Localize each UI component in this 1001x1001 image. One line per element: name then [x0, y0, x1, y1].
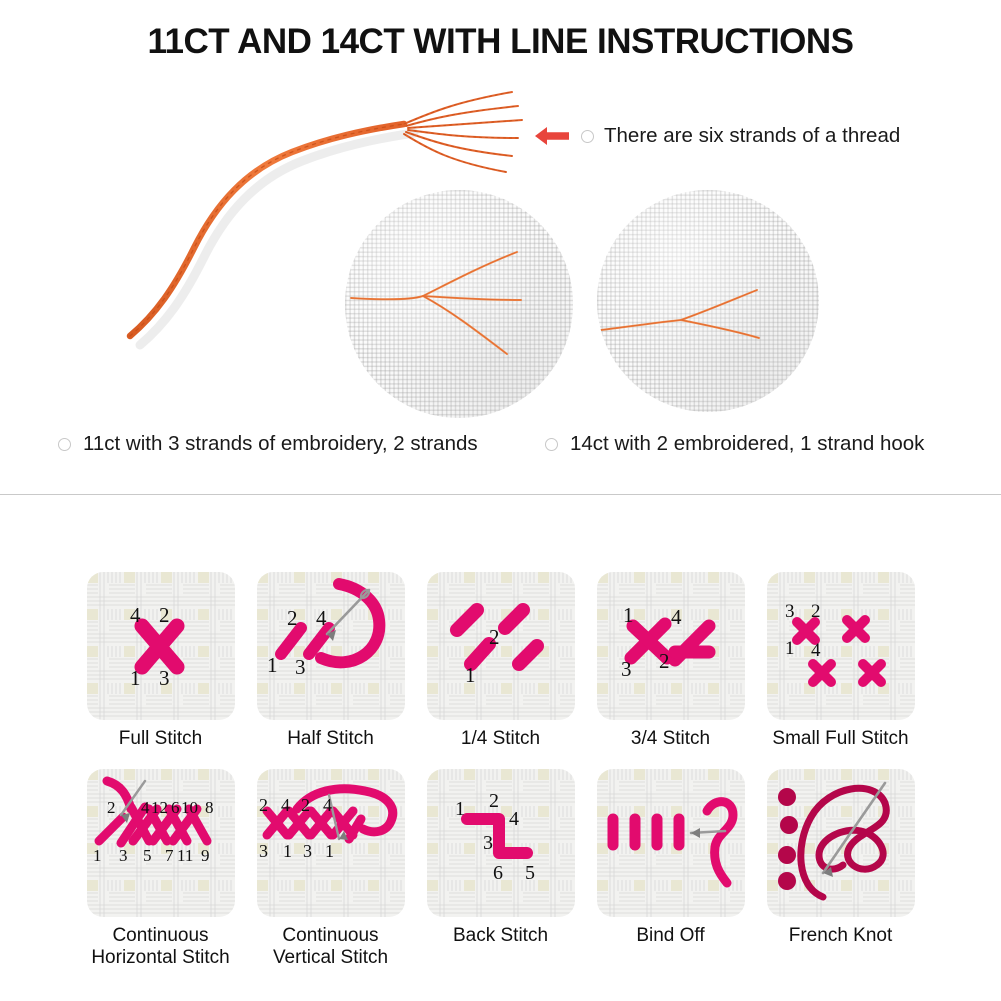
full-stitch-diagram: 4 2 1 3	[87, 572, 235, 720]
svg-text:3: 3	[621, 657, 632, 681]
stitch-tile: 4 2 1 3	[87, 572, 235, 720]
left-arrow-icon	[533, 125, 571, 147]
aida-circle-14ct	[597, 190, 819, 412]
stitch-tile	[597, 769, 745, 917]
thread-section: 11CT AND 14CT WITH LINE INSTRUCTIONS	[0, 0, 1001, 495]
svg-text:1: 1	[455, 798, 465, 820]
instruction-sheet: 11CT AND 14CT WITH LINE INSTRUCTIONS	[0, 0, 1001, 1001]
svg-text:1: 1	[785, 638, 795, 659]
stitch-cell-full-stitch: 4 2 1 3 Full Stitch	[84, 572, 237, 749]
small-full-stitch-diagram: 3 2 1 4	[767, 572, 915, 720]
svg-text:2: 2	[287, 606, 298, 630]
stitch-tile: 2 4 12 6 10 8 1 3 5 7 11	[87, 769, 235, 917]
continuous-vertical-stitch-diagram: 2 4 2 4 3 1 3 1	[257, 769, 405, 917]
svg-text:4: 4	[141, 798, 150, 817]
stitch-cell-quarter-stitch: 2 1 1/4 Stitch	[424, 572, 577, 749]
svg-text:4: 4	[509, 808, 519, 830]
strand-note-text: There are six strands of a thread	[604, 124, 900, 148]
stitch-grid: 4 2 1 3 Full Stitch	[0, 572, 1001, 968]
stitch-tile: 2 1	[427, 572, 575, 720]
svg-text:3: 3	[119, 846, 128, 865]
stitch-cell-small-full-stitch: 3 2 1 4 Small Full Stitch	[764, 572, 917, 749]
svg-text:4: 4	[281, 795, 290, 815]
stitch-cell-french-knot: French Knot	[764, 769, 917, 968]
svg-text:1: 1	[267, 653, 278, 677]
stitch-cell-bind-off: Bind Off	[594, 769, 747, 968]
stitch-tile	[767, 769, 915, 917]
svg-text:3: 3	[303, 841, 312, 861]
stitch-label: Continuous Vertical Stitch	[273, 925, 388, 968]
stitch-label: 1/4 Stitch	[461, 728, 540, 749]
stitch-tile: 1 4 2 3	[597, 572, 745, 720]
svg-text:3: 3	[259, 841, 268, 861]
continuous-horizontal-stitch-diagram: 2 4 12 6 10 8 1 3 5 7 11	[87, 769, 235, 917]
two-strand-split-diagram	[597, 190, 819, 412]
svg-text:4: 4	[671, 605, 682, 629]
svg-text:3: 3	[295, 655, 306, 679]
circle-captions: 11ct with 3 strands of embroidery, 2 str…	[0, 432, 1001, 462]
aida-circle-11ct	[345, 190, 573, 418]
svg-text:1: 1	[283, 841, 292, 861]
svg-text:2: 2	[107, 798, 116, 817]
stitch-tile: 3 2 1 4	[767, 572, 915, 720]
svg-text:1: 1	[93, 846, 102, 865]
svg-text:1: 1	[325, 841, 334, 861]
svg-text:3: 3	[785, 601, 795, 622]
stitch-cell-continuous-vertical: 2 4 2 4 3 1 3 1 Continuous Vertical Sti	[254, 769, 407, 968]
svg-text:2: 2	[489, 790, 499, 812]
svg-text:10: 10	[181, 798, 198, 817]
svg-text:4: 4	[323, 795, 332, 815]
page-title-thread: 11CT AND 14CT WITH LINE INSTRUCTIONS	[0, 22, 1001, 62]
svg-text:1: 1	[130, 666, 141, 690]
bind-off-diagram	[597, 769, 745, 917]
svg-text:1: 1	[623, 603, 634, 627]
svg-text:6: 6	[171, 798, 180, 817]
stitch-label: Back Stitch	[453, 925, 548, 946]
stitch-cell-back-stitch: 1 2 4 3 6 5 Back Stitch	[424, 769, 577, 968]
caption-14ct: 14ct with 2 embroidered, 1 strand hook	[545, 432, 924, 456]
three-strand-split-diagram	[345, 190, 573, 418]
stitch-tile: 2 4 1 3	[257, 572, 405, 720]
svg-text:3: 3	[159, 666, 170, 690]
stitch-label: French Knot	[789, 925, 893, 946]
svg-text:2: 2	[659, 649, 670, 673]
svg-text:1: 1	[465, 663, 476, 687]
stitch-tile: 1 2 4 3 6 5	[427, 769, 575, 917]
svg-text:6: 6	[493, 862, 503, 884]
svg-text:2: 2	[489, 625, 500, 649]
strand-note: There are six strands of a thread	[533, 124, 900, 148]
stitch-cell-three-quarter-stitch: 1 4 2 3 3/4 Stitch	[594, 572, 747, 749]
svg-text:5: 5	[143, 846, 152, 865]
stitch-row-2: 2 4 12 6 10 8 1 3 5 7 11	[0, 769, 1001, 968]
caption-11ct: 11ct with 3 strands of embroidery, 2 str…	[58, 432, 478, 456]
stitch-row-1: 4 2 1 3 Full Stitch	[0, 572, 1001, 749]
stitch-tile: 2 4 2 4 3 1 3 1	[257, 769, 405, 917]
svg-text:2: 2	[301, 795, 310, 815]
stitch-label: Full Stitch	[119, 728, 202, 749]
caption-11ct-text: 11ct with 3 strands of embroidery, 2 str…	[83, 432, 478, 456]
svg-text:4: 4	[316, 606, 327, 630]
three-quarter-stitch-diagram: 1 4 2 3	[597, 572, 745, 720]
stitch-label: Continuous Horizontal Stitch	[91, 925, 229, 968]
quarter-stitch-diagram: 2 1	[427, 572, 575, 720]
svg-text:7: 7	[165, 846, 174, 865]
back-stitch-diagram: 1 2 4 3 6 5	[427, 769, 575, 917]
embroidery-section: 4 2 1 3 Full Stitch	[0, 495, 1001, 1001]
bullet-ring-icon	[58, 438, 71, 451]
svg-text:12: 12	[151, 798, 168, 817]
french-knot-diagram	[767, 769, 915, 917]
caption-14ct-text: 14ct with 2 embroidered, 1 strand hook	[570, 432, 924, 456]
stitch-label: Half Stitch	[287, 728, 374, 749]
bullet-ring-icon	[581, 130, 594, 143]
svg-text:4: 4	[811, 640, 821, 661]
svg-text:2: 2	[259, 795, 268, 815]
svg-text:2: 2	[159, 603, 170, 627]
svg-text:8: 8	[205, 798, 214, 817]
svg-text:11: 11	[177, 846, 193, 865]
stitch-cell-half-stitch: 2 4 1 3 Half Stitch	[254, 572, 407, 749]
stitch-label: 3/4 Stitch	[631, 728, 710, 749]
svg-text:4: 4	[130, 603, 141, 627]
svg-text:2: 2	[811, 601, 821, 622]
bullet-ring-icon	[545, 438, 558, 451]
stitch-cell-continuous-horizontal: 2 4 12 6 10 8 1 3 5 7 11	[84, 769, 237, 968]
svg-text:9: 9	[201, 846, 210, 865]
stitch-label: Bind Off	[636, 925, 704, 946]
svg-text:3: 3	[483, 832, 493, 854]
svg-text:5: 5	[525, 862, 535, 884]
half-stitch-diagram: 2 4 1 3	[257, 572, 405, 720]
stitch-label: Small Full Stitch	[772, 728, 908, 749]
